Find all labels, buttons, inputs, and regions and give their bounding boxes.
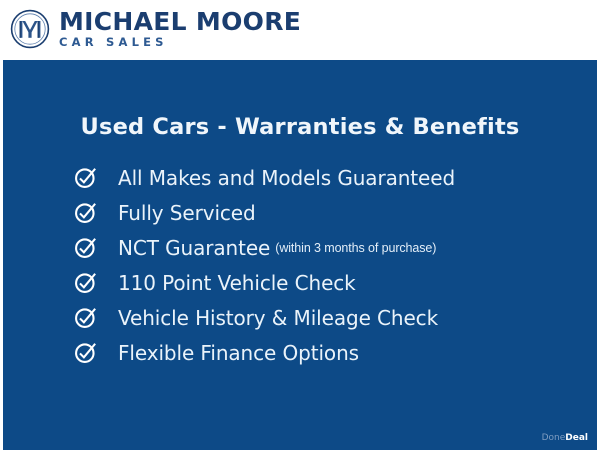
list-item: Fully Serviced — [74, 195, 594, 230]
page-title: Used Cars - Warranties & Benefits — [3, 114, 597, 140]
brand-subtitle: CAR SALES — [59, 37, 301, 49]
list-item-label: Fully Serviced — [118, 201, 256, 225]
circle-check-icon — [74, 306, 97, 329]
list-item-label: All Makes and Models Guaranteed — [118, 166, 455, 190]
advert-image: MICHAEL MOORE CAR SALES Used Cars - Warr… — [0, 0, 600, 450]
list-item: All Makes and Models Guaranteed — [74, 160, 594, 195]
brand-name: MICHAEL MOORE — [59, 9, 301, 34]
circle-check-icon — [74, 271, 97, 294]
watermark-part-two: Deal — [565, 433, 588, 443]
brand-wordmark: MICHAEL MOORE CAR SALES — [59, 9, 301, 49]
list-item: 110 Point Vehicle Check — [74, 265, 594, 300]
donedeal-watermark: DoneDeal — [542, 434, 588, 443]
benefits-list: All Makes and Models Guaranteed Fully Se… — [74, 160, 594, 370]
circular-m-monogram-logo-icon — [10, 9, 50, 49]
list-item-label: Vehicle History & Mileage Check — [118, 306, 438, 330]
circle-check-icon — [74, 341, 97, 364]
list-item-label: NCT Guarantee — [118, 236, 270, 260]
list-item-label: Flexible Finance Options — [118, 341, 359, 365]
circle-check-icon — [74, 166, 97, 189]
list-item: Vehicle History & Mileage Check — [74, 300, 594, 335]
list-item: NCT Guarantee (within 3 months of purcha… — [74, 230, 594, 265]
benefits-panel: Used Cars - Warranties & Benefits All Ma… — [3, 60, 597, 450]
watermark-part-one: Done — [542, 433, 566, 443]
list-item: Flexible Finance Options — [74, 335, 594, 370]
brand-header: MICHAEL MOORE CAR SALES — [0, 0, 600, 58]
list-item-label: 110 Point Vehicle Check — [118, 271, 356, 295]
list-item-note: (within 3 months of purchase) — [275, 241, 436, 255]
circle-check-icon — [74, 201, 97, 224]
circle-check-icon — [74, 236, 97, 259]
